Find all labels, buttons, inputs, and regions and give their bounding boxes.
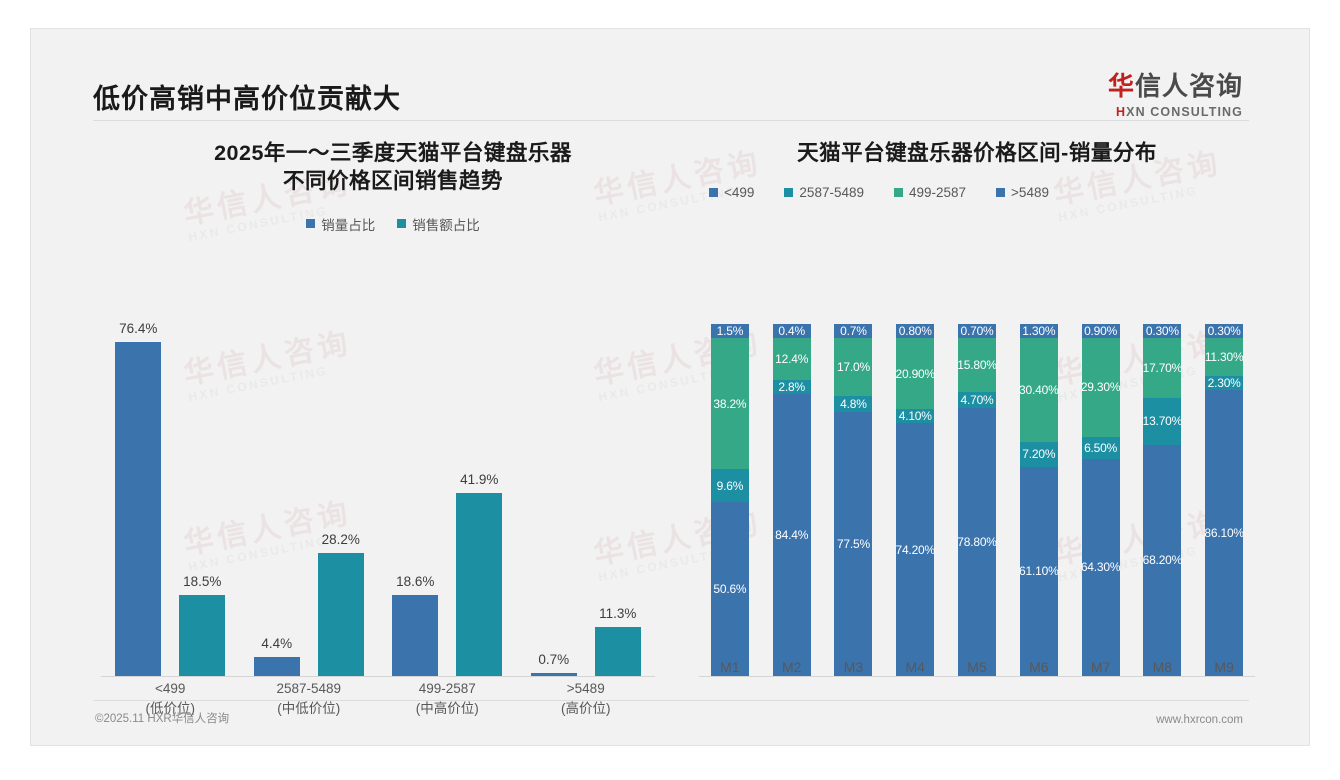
legend-swatch-icon [996,188,1005,197]
stacked-bar[interactable]: 0.30%17.70%13.70%68.20% [1143,324,1181,676]
bar-value-label: 28.2% [322,532,360,547]
left-chart-plot-area: 76.4%18.5%4.4%28.2%18.6%41.9%0.7%11.3% <… [93,297,693,677]
stacked-bar-segment[interactable]: 2.8% [773,380,811,394]
segment-value-label: 86.10% [1204,526,1244,540]
left-chart-bars: 76.4%18.5%4.4%28.2%18.6%41.9%0.7%11.3% [101,304,655,676]
segment-value-label: 2.8% [778,380,805,394]
stacked-bar-segment[interactable]: 9.6% [711,469,749,502]
stacked-bar-segment[interactable]: 29.30% [1082,338,1120,437]
stacked-bar-segment[interactable]: 1.30% [1020,324,1058,338]
category-label: M4 [884,659,946,675]
bar-value-label: 11.3% [599,606,636,621]
stacked-bar[interactable]: 1.30%30.40%7.20%61.10% [1020,324,1058,676]
stacked-bar[interactable]: 0.90%29.30%6.50%64.30% [1082,324,1120,676]
bar[interactable] [318,553,364,676]
segment-value-label: 4.10% [899,409,932,423]
legend-item-<499[interactable]: <499 [709,185,754,200]
stacked-bar-segment[interactable]: 77.5% [834,412,872,676]
bar[interactable] [179,595,225,676]
stacked-bar-segment[interactable]: 6.50% [1082,437,1120,459]
stacked-bar[interactable]: 0.7%17.0%4.8%77.5% [834,324,872,676]
stacked-bar-segment[interactable]: 68.20% [1143,445,1181,676]
left-chart-title: 2025年一～三季度天猫平台键盘乐器 不同价格区间销售趋势 [93,139,693,196]
legend-swatch-icon [709,188,718,197]
bar[interactable] [456,493,502,676]
category-label: M7 [1070,659,1132,675]
bar[interactable] [595,627,641,676]
stacked-bar[interactable]: 0.80%20.90%4.10%74.20% [896,324,934,676]
stacked-bar-segment[interactable]: 38.2% [711,338,749,469]
bar-value-label: 4.4% [261,636,292,651]
bar-column[interactable]: 18.6% [392,304,438,676]
bar-column[interactable]: 76.4% [115,304,161,676]
stacked-bar-segment[interactable]: 0.30% [1143,324,1181,338]
stacked-bar-segment[interactable]: 13.70% [1143,398,1181,444]
category-label: M9 [1193,659,1255,675]
stacked-bar-group: 0.70%15.80%4.70%78.80% [946,324,1008,676]
bar-column[interactable]: 11.3% [595,304,641,676]
stacked-bar-group: 1.30%30.40%7.20%61.10% [1008,324,1070,676]
stacked-bar[interactable]: 1.5%38.2%9.6%50.6% [711,324,749,676]
bar-column[interactable]: 18.5% [179,304,225,676]
bar-column[interactable]: 4.4% [254,304,300,676]
bar-group: 4.4%28.2% [240,304,379,676]
category-label-sub: (高价位) [517,699,656,719]
bar-value-label: 18.5% [183,574,221,589]
right-chart-title: 天猫平台键盘乐器价格区间-销量分布 [699,139,1255,167]
category-label-main: 499-2587 [378,679,517,699]
segment-value-label: 78.80% [957,535,997,549]
legend-item->5489[interactable]: >5489 [996,185,1049,200]
logo-accent-char: 华 [1108,71,1135,101]
stacked-bar[interactable]: 0.30%11.30%2.30%86.10% [1205,324,1243,676]
segment-value-label: 2.30% [1208,376,1241,390]
legend-label: 499-2587 [909,185,966,200]
left-chart-x-axis [101,676,655,677]
stacked-bar-segment[interactable]: 0.30% [1205,324,1243,338]
logo-chinese-text: 华信人咨询 [1108,73,1243,99]
bar-value-label: 0.7% [538,652,569,667]
legend-item-销量占比[interactable]: 销量占比 [306,214,375,234]
legend-item-499-2587[interactable]: 499-2587 [894,185,966,200]
stacked-bar-segment[interactable]: 78.80% [958,408,996,676]
segment-value-label: 4.8% [840,397,867,411]
segment-value-label: 15.80% [957,358,997,372]
bar[interactable] [115,342,161,676]
legend-item-销售额占比[interactable]: 销售额占比 [397,214,480,234]
category-label: M1 [699,659,761,675]
segment-value-label: 0.30% [1146,324,1179,338]
category-label: M3 [823,659,885,675]
logo-rest-chars: 信人咨询 [1135,71,1243,101]
segment-value-label: 0.80% [899,324,932,338]
stacked-bar[interactable]: 0.70%15.80%4.70%78.80% [958,324,996,676]
stacked-bar-segment[interactable]: 2.30% [1205,376,1243,390]
segment-value-label: 64.30% [1081,560,1121,574]
segment-value-label: 17.0% [837,360,870,374]
segment-value-label: 0.90% [1084,324,1117,338]
segment-value-label: 1.30% [1022,324,1055,338]
stacked-bar-segment[interactable]: 64.30% [1082,459,1120,676]
category-label: M5 [946,659,1008,675]
segment-value-label: 68.20% [1143,553,1183,567]
legend-label: 销售额占比 [412,214,480,234]
footer-website: www.hxrcon.com [1156,714,1243,726]
segment-value-label: 29.30% [1081,380,1121,394]
left-chart-legend: 销量占比销售额占比 [93,214,693,234]
logo-english-text: HXN CONSULTING [1108,106,1243,119]
company-logo: 华信人咨询 HXN CONSULTING [1108,73,1243,119]
category-label: M6 [1008,659,1070,675]
segment-value-label: 9.6% [717,479,744,493]
legend-swatch-icon [397,219,406,228]
category-label-main: <499 [101,679,240,699]
bar-group: 0.7%11.3% [517,304,656,676]
segment-value-label: 7.20% [1022,447,1055,461]
stacked-bar-segment[interactable]: 7.20% [1020,442,1058,467]
stacked-bar-group: 0.90%29.30%6.50%64.30% [1070,324,1132,676]
segment-value-label: 13.70% [1143,414,1183,428]
segment-value-label: 12.4% [775,352,808,366]
legend-label: 销量占比 [321,214,375,234]
bar-column[interactable]: 0.7% [531,304,577,676]
segment-value-label: 0.70% [961,324,994,338]
right-chart-panel: 天猫平台键盘乐器价格区间-销量分布 <4992587-5489499-2587>… [699,139,1255,719]
category-label: M8 [1131,659,1193,675]
stacked-bar-segment[interactable]: 0.70% [958,324,996,338]
stacked-bar-segment[interactable]: 84.4% [773,394,811,676]
logo-en-rest: XN CONSULTING [1126,105,1243,119]
legend-swatch-icon [306,219,315,228]
footer-divider [93,700,1249,701]
stacked-bar-segment[interactable]: 50.6% [711,502,749,676]
legend-swatch-icon [784,188,793,197]
segment-value-label: 84.4% [775,528,808,542]
legend-label: <499 [724,185,754,200]
stacked-bar-segment[interactable]: 4.8% [834,396,872,412]
stacked-bar-segment[interactable]: 0.80% [896,324,934,338]
stacked-bar-segment[interactable]: 17.0% [834,338,872,396]
stacked-bar-segment[interactable]: 20.90% [896,338,934,409]
segment-value-label: 74.20% [895,543,935,557]
category-label-sub: (中低价位) [240,699,379,719]
legend-swatch-icon [894,188,903,197]
stacked-bar-segment[interactable]: 30.40% [1020,338,1058,442]
header-divider [93,120,1249,121]
bar[interactable] [392,595,438,676]
stacked-bar-group: 0.7%17.0%4.8%77.5% [823,324,885,676]
stacked-bar-segment[interactable]: 0.7% [834,324,872,338]
segment-value-label: 0.30% [1208,324,1241,338]
left-chart-title-line1: 2025年一～三季度天猫平台键盘乐器 [93,139,693,167]
stacked-bar-group: 0.80%20.90%4.10%74.20% [884,324,946,676]
segment-value-label: 6.50% [1084,441,1117,455]
right-chart-bars: 1.5%38.2%9.6%50.6%0.4%12.4%2.8%84.4%0.7%… [699,324,1255,676]
bar-column[interactable]: 41.9% [456,304,502,676]
legend-item-2587-5489[interactable]: 2587-5489 [784,185,864,200]
bar-group: 18.6%41.9% [378,304,517,676]
segment-value-label: 1.5% [717,324,744,338]
left-chart-panel: 2025年一～三季度天猫平台键盘乐器 不同价格区间销售趋势 销量占比销售额占比 … [93,139,693,719]
stacked-bar-segment[interactable]: 15.80% [958,338,996,392]
legend-label: >5489 [1011,185,1049,200]
stacked-bar-segment[interactable]: 17.70% [1143,338,1181,398]
segment-value-label: 20.90% [895,367,935,381]
stacked-bar-group: 0.4%12.4%2.8%84.4% [761,324,823,676]
category-label: M2 [761,659,823,675]
slide-canvas: 华信人咨询HXN CONSULTING 华信人咨询HXN CONSULTING … [30,28,1310,746]
right-chart-category-labels: M1M2M3M4M5M6M7M8M9 [699,659,1255,675]
category-label-main: >5489 [517,679,656,699]
segment-value-label: 0.4% [778,324,805,338]
stacked-bar-group: 0.30%11.30%2.30%86.10% [1193,324,1255,676]
stacked-bar-segment[interactable]: 0.90% [1082,324,1120,338]
segment-value-label: 11.30% [1205,350,1244,364]
slide-header: 低价高销中高价位贡献大 华信人咨询 HXN CONSULTING [31,29,1309,121]
category-label-sub: (中高价位) [378,699,517,719]
segment-value-label: 30.40% [1019,383,1059,397]
segment-value-label: 4.70% [961,393,994,407]
stacked-bar-group: 1.5%38.2%9.6%50.6% [699,324,761,676]
stacked-bar-segment[interactable]: 4.10% [896,409,934,423]
bar-column[interactable]: 28.2% [318,304,364,676]
right-chart-x-axis [699,676,1255,677]
bar-group: 76.4%18.5% [101,304,240,676]
right-chart-legend: <4992587-5489499-2587>5489 [699,185,1255,200]
left-chart-title-line2: 不同价格区间销售趋势 [93,167,693,195]
stacked-bar-segment[interactable]: 12.4% [773,338,811,380]
stacked-bar-group: 0.30%17.70%13.70%68.20% [1131,324,1193,676]
bar-value-label: 76.4% [119,321,157,336]
segment-value-label: 38.2% [713,397,746,411]
segment-value-label: 77.5% [837,537,870,551]
segment-value-label: 61.10% [1019,564,1059,578]
stacked-bar-segment[interactable]: 11.30% [1205,338,1243,376]
segment-value-label: 50.6% [713,582,746,596]
bar[interactable] [254,657,300,676]
bar-value-label: 41.9% [460,472,498,487]
logo-en-accent: H [1116,105,1126,119]
stacked-bar-segment[interactable]: 0.4% [773,324,811,338]
stacked-bar-segment[interactable]: 86.10% [1205,390,1243,676]
legend-label: 2587-5489 [799,185,864,200]
bar-value-label: 18.6% [396,574,434,589]
segment-value-label: 0.7% [840,324,867,338]
page-title: 低价高销中高价位贡献大 [93,77,401,116]
segment-value-label: 17.70% [1143,361,1183,375]
stacked-bar-segment[interactable]: 74.20% [896,423,934,676]
stacked-bar[interactable]: 0.4%12.4%2.8%84.4% [773,324,811,676]
stacked-bar-segment[interactable]: 4.70% [958,392,996,408]
right-chart-plot-area: 1.5%38.2%9.6%50.6%0.4%12.4%2.8%84.4%0.7%… [699,297,1255,677]
stacked-bar-segment[interactable]: 61.10% [1020,467,1058,676]
stacked-bar-segment[interactable]: 1.5% [711,324,749,338]
footer-copyright: ©2025.11 HXR华信人咨询 [95,710,229,726]
category-label-main: 2587-5489 [240,679,379,699]
